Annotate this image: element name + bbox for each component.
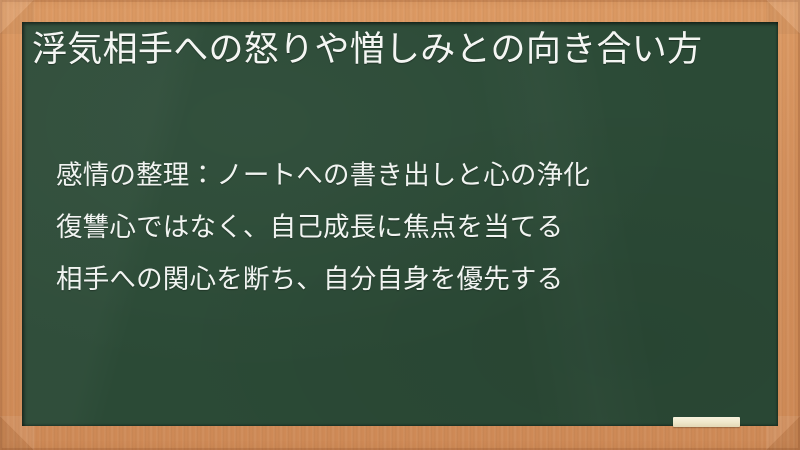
bullet-item-2: 復讐心ではなく、自己成長に焦点を当てる [56, 202, 760, 254]
slide-title: 浮気相手への怒りや憎しみとの向き合い方 [32, 26, 760, 74]
slide-content: 浮気相手への怒りや憎しみとの向き合い方 感情の整理：ノートへの書き出しと心の浄化… [22, 22, 778, 426]
chalkboard-slide: 浮気相手への怒りや憎しみとの向き合い方 感情の整理：ノートへの書き出しと心の浄化… [0, 0, 800, 450]
chalkboard-surface: 浮気相手への怒りや憎しみとの向き合い方 感情の整理：ノートへの書き出しと心の浄化… [22, 22, 778, 426]
bullet-item-1: 感情の整理：ノートへの書き出しと心の浄化 [56, 150, 760, 202]
bullet-item-3: 相手への関心を断ち、自分自身を優先する [56, 254, 760, 306]
bullet-list: 感情の整理：ノートへの書き出しと心の浄化 復讐心ではなく、自己成長に焦点を当てる… [56, 150, 760, 306]
chalk-stick [673, 417, 740, 427]
